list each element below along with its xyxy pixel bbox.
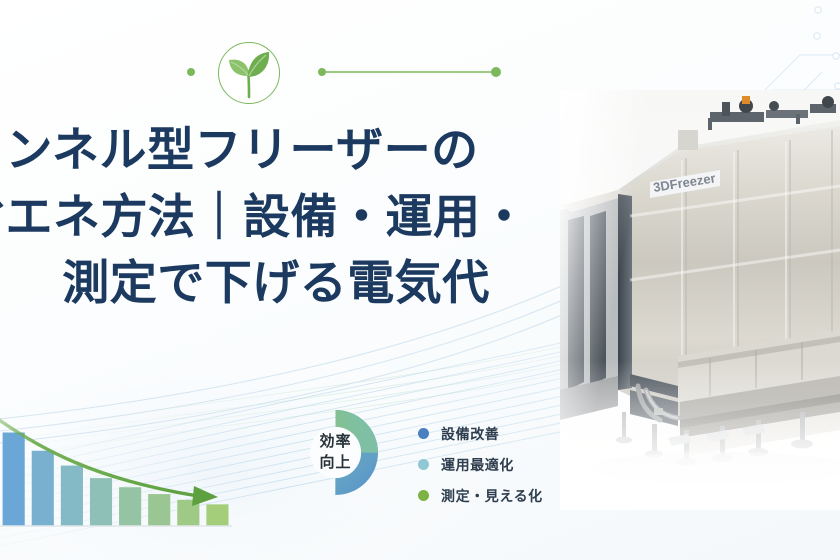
tunnel-freezer-photo: 3DFreezer [560, 90, 840, 510]
bar [90, 478, 112, 526]
bar [61, 466, 83, 526]
bar [3, 433, 25, 526]
legend-label: 運用最適化 [441, 455, 514, 475]
legend-item-equipment: 設備改善 [418, 418, 598, 449]
chart-legend: 設備改善 運用最適化 測定・見える化 [418, 418, 598, 511]
legend-item-measurement: 測定・見える化 [418, 480, 598, 511]
energy-reduction-bar-chart [0, 400, 240, 540]
leaf-sprout-icon [218, 42, 280, 104]
page-title-line-1: トンネル型フリーザーの [0, 118, 558, 185]
bar [206, 504, 228, 526]
legend-dot-icon [418, 428, 429, 439]
legend-dot-icon [418, 490, 429, 501]
page-title-line-2: 省エネ方法｜設備・運用・ [0, 185, 558, 252]
trend-arrow-head [192, 486, 218, 506]
page-title: トンネル型フリーザーの 省エネ方法｜設備・運用・ 測定で下げる電気代 [0, 118, 558, 318]
ornament-dot-right-inner [318, 68, 326, 76]
legend-label: 測定・見える化 [441, 486, 543, 506]
bar [148, 494, 170, 526]
freezer-illustration: 3DFreezer [560, 90, 840, 510]
page-title-line-3: 測定で下げる電気代 [0, 251, 558, 318]
legend-label: 設備改善 [441, 424, 499, 444]
hero-banner: 3DFreezer [0, 0, 840, 560]
bar [119, 487, 141, 526]
ornament-dot-left [187, 68, 195, 76]
ornament-dot-right-outer [491, 67, 501, 77]
bar [32, 451, 54, 526]
top-ornament [0, 40, 560, 104]
donut-center-label: 効率 向上 [287, 404, 384, 501]
legend-dot-icon [418, 459, 429, 470]
donut-center-line-2: 向上 [319, 453, 351, 473]
legend-item-operation: 運用最適化 [418, 449, 598, 480]
bar-group [0, 412, 228, 526]
donut-center-line-1: 効率 [319, 432, 351, 452]
freezer-end-dark [618, 194, 632, 390]
